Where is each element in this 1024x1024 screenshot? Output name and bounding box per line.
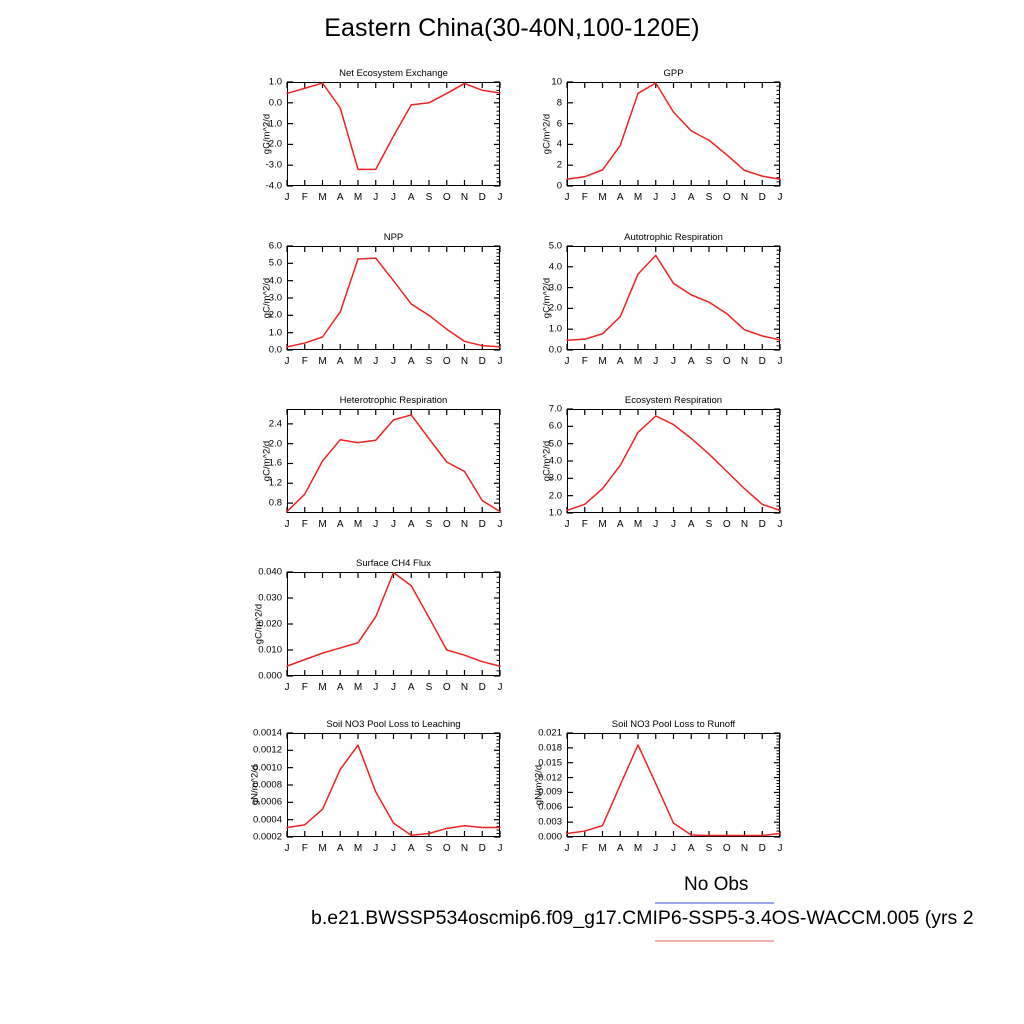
series-line-surface-ch4-flux xyxy=(287,573,500,667)
chart-title-ecosystem-respiration: Ecosystem Respiration xyxy=(567,395,780,406)
x-tick-label: A xyxy=(688,843,695,854)
x-tick-label: D xyxy=(479,843,486,854)
y-tick-label: 0.0 xyxy=(549,345,562,356)
y-tick-label: 0.0012 xyxy=(253,745,282,756)
plot-canvas-nee xyxy=(287,82,500,186)
x-tick-label: J xyxy=(778,843,783,854)
x-tick-label: J xyxy=(285,682,290,693)
x-tick-label: F xyxy=(302,356,308,367)
x-tick-label: J xyxy=(373,192,378,203)
x-tick-label: J xyxy=(498,356,503,367)
series-line-soil-no3-leaching xyxy=(287,745,500,835)
x-tick-label: F xyxy=(582,356,588,367)
y-tick-label: 7.0 xyxy=(549,404,562,415)
x-tick-label: N xyxy=(741,356,748,367)
chart-title-surface-ch4-flux: Surface CH4 Flux xyxy=(287,558,500,569)
legend-model-line xyxy=(655,940,774,942)
y-tick-label: -4.0 xyxy=(266,181,282,192)
x-tick-label: O xyxy=(443,356,451,367)
series-line-npp xyxy=(287,258,500,347)
x-tick-label: S xyxy=(706,519,713,530)
y-axis-title: gC/m^2/d xyxy=(262,441,273,481)
x-tick-label: A xyxy=(408,843,415,854)
chart-panel-autotrophic-respiration: Autotrophic Respiration5.04.03.02.01.00.… xyxy=(567,246,780,350)
x-tick-label: O xyxy=(443,192,451,203)
x-tick-label: F xyxy=(582,519,588,530)
x-tick-label: J xyxy=(373,519,378,530)
x-tick-label: N xyxy=(741,519,748,530)
x-tick-label: M xyxy=(318,356,326,367)
x-tick-label: S xyxy=(426,843,433,854)
x-tick-label: O xyxy=(443,519,451,530)
x-tick-label: M xyxy=(318,843,326,854)
x-tick-label: F xyxy=(302,519,308,530)
x-tick-label: F xyxy=(302,843,308,854)
x-tick-label: N xyxy=(461,843,468,854)
legend-model-label: b.e21.BWSSP534oscmip6.f09_g17.CMIP6-SSP5… xyxy=(311,907,974,930)
x-tick-label: A xyxy=(688,192,695,203)
x-tick-label: J xyxy=(653,192,658,203)
x-tick-label: M xyxy=(354,519,362,530)
x-tick-label: A xyxy=(617,519,624,530)
x-tick-label: S xyxy=(706,356,713,367)
chart-title-heterotrophic-respiration: Heterotrophic Respiration xyxy=(287,395,500,406)
plot-canvas-soil-no3-leaching xyxy=(287,733,500,837)
y-tick-label: 0.000 xyxy=(258,671,282,682)
x-tick-label: D xyxy=(759,356,766,367)
y-tick-label: 0.003 xyxy=(538,817,562,828)
legend-obs-line xyxy=(655,902,774,904)
y-tick-label: 6.0 xyxy=(549,421,562,432)
chart-title-soil-no3-runoff: Soil NO3 Pool Loss to Runoff xyxy=(567,719,780,730)
x-tick-label: J xyxy=(653,519,658,530)
x-tick-label: J xyxy=(565,519,570,530)
x-tick-label: A xyxy=(617,192,624,203)
x-tick-label: M xyxy=(354,843,362,854)
x-tick-label: J xyxy=(498,519,503,530)
x-tick-label: J xyxy=(391,356,396,367)
x-tick-label: A xyxy=(688,356,695,367)
x-tick-label: S xyxy=(706,843,713,854)
x-tick-label: M xyxy=(598,192,606,203)
chart-title-gpp: GPP xyxy=(567,68,780,79)
x-tick-label: M xyxy=(318,519,326,530)
series-line-nee xyxy=(287,83,500,169)
y-tick-label: 0 xyxy=(557,181,562,192)
x-tick-label: N xyxy=(461,192,468,203)
x-tick-label: M xyxy=(634,356,642,367)
y-tick-label: 1.0 xyxy=(549,324,562,335)
x-tick-label: A xyxy=(337,843,344,854)
x-tick-label: S xyxy=(706,192,713,203)
x-tick-label: J xyxy=(565,192,570,203)
y-tick-label: 4 xyxy=(557,139,562,150)
y-tick-label: 0.0002 xyxy=(253,832,282,843)
x-tick-label: S xyxy=(426,682,433,693)
y-tick-label: 0.0 xyxy=(269,97,282,108)
chart-panel-soil-no3-leaching: Soil NO3 Pool Loss to Leaching0.00140.00… xyxy=(287,733,500,837)
x-tick-label: A xyxy=(337,356,344,367)
y-axis-title: gC/m^2/d xyxy=(542,114,553,154)
plot-canvas-autotrophic-respiration xyxy=(567,246,780,350)
x-tick-label: F xyxy=(302,682,308,693)
x-tick-label: J xyxy=(391,192,396,203)
x-tick-label: D xyxy=(479,192,486,203)
legend-obs-label: No Obs xyxy=(684,874,748,896)
plot-canvas-gpp xyxy=(567,82,780,186)
x-tick-label: M xyxy=(634,843,642,854)
x-tick-label: J xyxy=(671,843,676,854)
x-tick-label: J xyxy=(653,843,658,854)
x-tick-label: J xyxy=(778,356,783,367)
x-tick-label: A xyxy=(408,192,415,203)
x-tick-label: A xyxy=(617,843,624,854)
x-tick-label: N xyxy=(461,356,468,367)
x-tick-label: A xyxy=(617,356,624,367)
chart-panel-soil-no3-runoff: Soil NO3 Pool Loss to Runoff0.0210.0180.… xyxy=(567,733,780,837)
x-tick-label: J xyxy=(671,192,676,203)
chart-panel-ecosystem-respiration: Ecosystem Respiration7.06.05.04.03.02.01… xyxy=(567,409,780,513)
x-tick-label: J xyxy=(778,519,783,530)
x-tick-label: O xyxy=(723,192,731,203)
y-axis-title: gC/m^2/d xyxy=(262,114,273,154)
y-tick-label: 0.021 xyxy=(538,728,562,739)
y-tick-label: 2 xyxy=(557,160,562,171)
plot-canvas-npp xyxy=(287,246,500,350)
y-axis-title: gC/m^2/d xyxy=(262,278,273,318)
chart-title-soil-no3-leaching: Soil NO3 Pool Loss to Leaching xyxy=(287,719,500,730)
x-tick-label: D xyxy=(759,843,766,854)
x-tick-label: A xyxy=(408,682,415,693)
y-tick-label: 4.0 xyxy=(549,261,562,272)
x-tick-label: O xyxy=(723,519,731,530)
x-tick-label: J xyxy=(671,519,676,530)
x-tick-label: D xyxy=(479,519,486,530)
y-tick-label: 1.0 xyxy=(269,327,282,338)
plot-canvas-soil-no3-runoff xyxy=(567,733,780,837)
x-tick-label: J xyxy=(565,843,570,854)
y-tick-label: 0.0 xyxy=(269,345,282,356)
y-tick-label: 0.8 xyxy=(269,498,282,509)
y-tick-label: 10 xyxy=(551,77,562,88)
x-tick-label: D xyxy=(759,192,766,203)
x-tick-label: F xyxy=(582,843,588,854)
x-tick-label: M xyxy=(354,356,362,367)
y-tick-label: 1.0 xyxy=(549,508,562,519)
x-tick-label: D xyxy=(479,356,486,367)
series-line-autotrophic-respiration xyxy=(567,255,780,340)
x-tick-label: J xyxy=(778,192,783,203)
x-tick-label: M xyxy=(318,192,326,203)
chart-panel-nee: Net Ecosystem Exchange1.00.0-1.0-2.0-3.0… xyxy=(287,82,500,186)
x-tick-label: J xyxy=(498,192,503,203)
x-tick-label: S xyxy=(426,519,433,530)
x-tick-label: J xyxy=(671,356,676,367)
y-tick-label: 8 xyxy=(557,97,562,108)
x-tick-label: A xyxy=(408,519,415,530)
plot-canvas-heterotrophic-respiration xyxy=(287,409,500,513)
x-tick-label: J xyxy=(498,843,503,854)
chart-title-autotrophic-respiration: Autotrophic Respiration xyxy=(567,232,780,243)
x-tick-label: J xyxy=(285,843,290,854)
x-tick-label: J xyxy=(391,682,396,693)
y-tick-label: 0.030 xyxy=(258,593,282,604)
x-tick-label: M xyxy=(634,192,642,203)
x-tick-label: N xyxy=(461,682,468,693)
x-tick-label: A xyxy=(408,356,415,367)
y-tick-label: 0.0004 xyxy=(253,814,282,825)
x-tick-label: J xyxy=(391,519,396,530)
x-tick-label: F xyxy=(582,192,588,203)
y-tick-label: 5.0 xyxy=(269,258,282,269)
chart-panel-surface-ch4-flux: Surface CH4 Flux0.0400.0300.0200.0100.00… xyxy=(287,572,500,676)
x-tick-label: O xyxy=(723,356,731,367)
y-axis-title: gN/m^2/d xyxy=(250,765,261,805)
x-tick-label: O xyxy=(443,682,451,693)
x-tick-label: M xyxy=(598,519,606,530)
y-tick-label: 0.000 xyxy=(538,832,562,843)
x-tick-label: D xyxy=(479,682,486,693)
x-tick-label: A xyxy=(688,519,695,530)
y-tick-label: 5.0 xyxy=(549,241,562,252)
y-axis-title: gC/m^2/d xyxy=(542,278,553,318)
y-tick-label: 2.4 xyxy=(269,418,282,429)
x-tick-label: J xyxy=(373,356,378,367)
x-tick-label: J xyxy=(285,519,290,530)
y-tick-label: 0.0014 xyxy=(253,728,282,739)
x-tick-label: N xyxy=(741,192,748,203)
plot-canvas-surface-ch4-flux xyxy=(287,572,500,676)
y-axis-title: gC/m^2/d xyxy=(254,604,265,644)
chart-panel-heterotrophic-respiration: Heterotrophic Respiration2.42.01.61.20.8… xyxy=(287,409,500,513)
x-tick-label: N xyxy=(741,843,748,854)
x-tick-label: O xyxy=(723,843,731,854)
x-tick-label: N xyxy=(461,519,468,530)
x-tick-label: J xyxy=(373,843,378,854)
chart-title-nee: Net Ecosystem Exchange xyxy=(287,68,500,79)
y-axis-title: gN/m^2/d xyxy=(534,765,545,805)
y-tick-label: 0.010 xyxy=(258,645,282,656)
chart-panel-gpp: GPP1086420gC/m^2/dJFMAMJJASONDJ xyxy=(567,82,780,186)
x-tick-label: J xyxy=(373,682,378,693)
x-tick-label: S xyxy=(426,192,433,203)
y-tick-label: 0.018 xyxy=(538,742,562,753)
figure-page: Eastern China(30-40N,100-120E) Net Ecosy… xyxy=(0,0,1024,1024)
x-tick-label: M xyxy=(318,682,326,693)
x-tick-label: S xyxy=(426,356,433,367)
y-tick-label: 0.040 xyxy=(258,567,282,578)
x-tick-label: J xyxy=(391,843,396,854)
x-tick-label: M xyxy=(354,682,362,693)
x-tick-label: M xyxy=(598,356,606,367)
series-line-soil-no3-runoff xyxy=(567,745,780,836)
y-axis-title: gC/m^2/d xyxy=(542,441,553,481)
x-tick-label: M xyxy=(634,519,642,530)
x-tick-label: J xyxy=(285,192,290,203)
y-tick-label: -3.0 xyxy=(266,160,282,171)
x-tick-label: A xyxy=(337,192,344,203)
series-line-ecosystem-respiration xyxy=(567,416,780,510)
x-tick-label: M xyxy=(354,192,362,203)
plot-canvas-ecosystem-respiration xyxy=(567,409,780,513)
chart-panel-npp: NPP6.05.04.03.02.01.00.0gC/m^2/dJFMAMJJA… xyxy=(287,246,500,350)
y-tick-label: 1.0 xyxy=(269,77,282,88)
x-tick-label: J xyxy=(498,682,503,693)
x-tick-label: J xyxy=(653,356,658,367)
x-tick-label: A xyxy=(337,519,344,530)
page-title: Eastern China(30-40N,100-120E) xyxy=(0,14,1024,43)
y-tick-label: 6.0 xyxy=(269,241,282,252)
series-line-heterotrophic-respiration xyxy=(287,415,500,512)
chart-title-npp: NPP xyxy=(287,232,500,243)
y-tick-label: 2.0 xyxy=(549,490,562,501)
x-tick-label: F xyxy=(302,192,308,203)
series-line-gpp xyxy=(567,83,780,179)
x-tick-label: M xyxy=(598,843,606,854)
x-tick-label: J xyxy=(565,356,570,367)
x-tick-label: D xyxy=(759,519,766,530)
x-tick-label: A xyxy=(337,682,344,693)
x-tick-label: O xyxy=(443,843,451,854)
y-tick-label: 6 xyxy=(557,118,562,129)
x-tick-label: J xyxy=(285,356,290,367)
